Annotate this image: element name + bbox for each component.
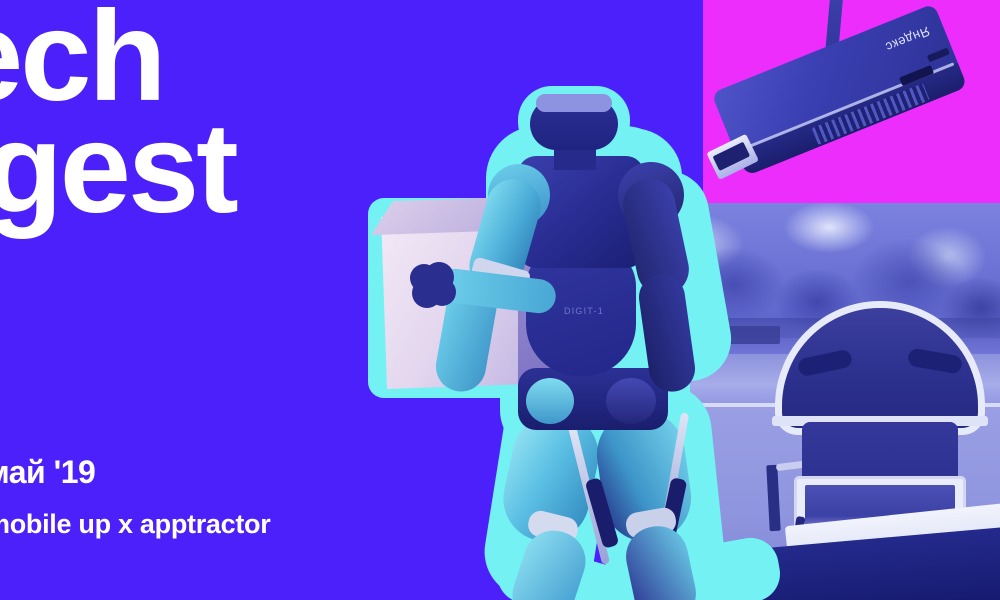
robot-sensor-array — [536, 94, 612, 112]
robot-hip-actuator-right — [606, 378, 656, 424]
publisher-credit: mobile up x apptractor — [0, 509, 270, 540]
poster-canvas: Яндекс — [0, 0, 1000, 600]
footer-block: май '19 mobile up x apptractor — [0, 454, 270, 540]
robot-hip-actuator-left — [526, 378, 574, 424]
camera-sunshade-icon — [782, 308, 978, 428]
robot-model-label: DIGIT-1 — [564, 306, 604, 316]
robot-gripper-icon — [414, 266, 452, 304]
robot-cutout: DIGIT-1 — [368, 86, 788, 600]
issue-date: май '19 — [0, 454, 270, 491]
device-brand-label: Яндекс — [883, 23, 932, 54]
